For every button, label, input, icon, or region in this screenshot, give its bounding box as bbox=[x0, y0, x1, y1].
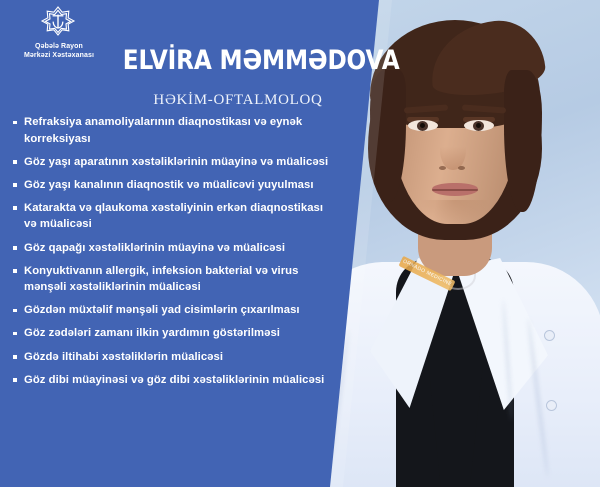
service-item: Konyuktivanın allergik, infeksion bakter… bbox=[8, 263, 338, 296]
coat-button bbox=[546, 400, 557, 411]
service-item: Göz dibi müayinəsi və göz dibi xəstəlikl… bbox=[8, 372, 338, 389]
nostril-right bbox=[458, 166, 465, 170]
hospital-logo: Qəbələ Rayon Mərkəzi Xəstəxanası bbox=[16, 6, 102, 64]
doctor-name: ELVİRA MƏMMƏDOVA bbox=[123, 46, 353, 76]
service-item: Katarakta və qlaukoma xəstəliyinin erkən… bbox=[8, 200, 338, 233]
service-item: Gözdə iltihabi xəstəliklərin müalicəsi bbox=[8, 349, 338, 366]
service-item: Göz yaşı aparatının xəstəliklərinin müay… bbox=[8, 154, 338, 171]
chin-shading bbox=[420, 200, 490, 224]
doctor-specialty: HƏKİM-OFTALMOLOQ bbox=[104, 92, 372, 109]
eye-right bbox=[464, 120, 494, 131]
lip-line bbox=[432, 189, 478, 191]
service-item: Göz qapağı xəstəliklərinin müayinə və mü… bbox=[8, 240, 338, 257]
service-item: Göz zədələri zamanı ilkin yardımın göstə… bbox=[8, 325, 338, 342]
pupil-right bbox=[476, 123, 481, 128]
service-item: Göz yaşı kanalının diaqnostik və müalicə… bbox=[8, 177, 338, 194]
hospital-logo-line1: Qəbələ Rayon bbox=[16, 42, 102, 51]
services-list: Refraksiya anamoliyalarının diaqnostikas… bbox=[8, 114, 338, 395]
nostril-left bbox=[439, 166, 446, 170]
service-item: Refraksiya anamoliyalarının diaqnostikas… bbox=[8, 114, 338, 147]
eye-left bbox=[408, 120, 438, 131]
eight-point-star-medical-emblem-icon bbox=[36, 6, 80, 40]
service-item: Gözdən müxtəlif mənşəli yad cisimlərin ç… bbox=[8, 302, 338, 319]
poster-root: ORNADO MEDICINE Qəbələ Rayon Mərkəzi Xəs… bbox=[0, 0, 600, 503]
hospital-logo-text: Qəbələ Rayon Mərkəzi Xəstəxanası bbox=[16, 42, 102, 60]
nose bbox=[440, 128, 466, 170]
hospital-logo-line2: Mərkəzi Xəstəxanası bbox=[16, 51, 102, 60]
coat-button bbox=[544, 330, 555, 341]
hair-side-right bbox=[504, 70, 542, 212]
pupil-left bbox=[420, 123, 425, 128]
